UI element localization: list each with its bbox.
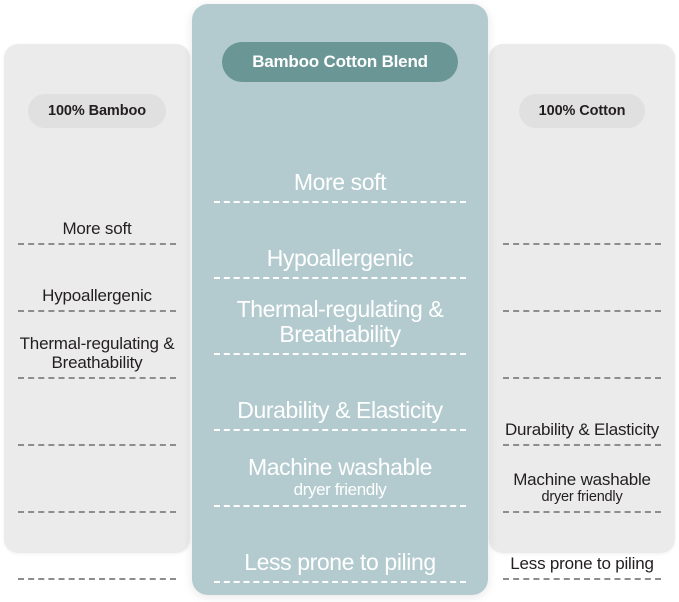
row-divider	[18, 243, 176, 245]
row-divider	[503, 578, 661, 580]
feature-label-main: Machine washable	[248, 454, 432, 480]
column-card-blend: Bamboo Cotton Blend More soft Hypoallerg…	[192, 4, 488, 595]
comparison-chart: 100% Bamboo More soft Hypoallergenic The…	[0, 0, 679, 602]
badge-label-blend: Bamboo Cotton Blend	[222, 42, 458, 82]
feature-list-bamboo: More soft Hypoallergenic Thermal-regulat…	[4, 182, 190, 584]
feature-list-blend: More soft Hypoallergenic Thermal-regulat…	[192, 132, 488, 588]
feature-label: More soft	[294, 170, 386, 196]
feature-row: Hypoallergenic	[18, 249, 176, 316]
feature-label: Durability & Elasticity	[237, 398, 443, 424]
column-header-blend: Bamboo Cotton Blend	[192, 42, 488, 82]
feature-row-empty	[503, 316, 661, 383]
feature-row: Less prone to piling	[214, 512, 466, 588]
feature-label: More soft	[62, 219, 131, 238]
row-divider	[503, 511, 661, 513]
row-divider	[503, 243, 661, 245]
row-divider	[18, 377, 176, 379]
feature-label: Hypoallergenic	[267, 246, 414, 272]
feature-row-empty	[18, 517, 176, 584]
feature-row: Durability & Elasticity	[503, 383, 661, 450]
feature-row: More soft	[214, 132, 466, 208]
feature-list-cotton: Durability & Elasticity Machine washable…	[489, 182, 675, 584]
feature-label: Machine washable dryer friendly	[248, 455, 432, 500]
column-card-cotton: 100% Cotton Durability & Elasticity	[489, 44, 675, 553]
column-card-bamboo: 100% Bamboo More soft Hypoallergenic The…	[4, 44, 190, 553]
row-divider	[214, 581, 466, 583]
feature-label: Thermal-regulating & Breathability	[18, 334, 176, 372]
row-divider	[214, 429, 466, 431]
column-header-cotton: 100% Cotton	[489, 94, 675, 128]
feature-label: Machine washable dryer friendly	[513, 470, 651, 506]
badge-label-bamboo: 100% Bamboo	[28, 94, 166, 128]
feature-label: Thermal-regulating & Breathability	[214, 297, 466, 349]
row-divider	[503, 444, 661, 446]
feature-row: Thermal-regulating & Breathability	[214, 284, 466, 360]
feature-row-empty	[503, 182, 661, 249]
feature-row-empty	[18, 383, 176, 450]
feature-row: Machine washable dryer friendly	[503, 450, 661, 517]
feature-row-empty	[18, 450, 176, 517]
feature-label-sub: dryer friendly	[248, 480, 432, 500]
feature-label: Less prone to piling	[244, 550, 435, 576]
feature-row: Durability & Elasticity	[214, 360, 466, 436]
row-divider	[214, 505, 466, 507]
feature-label-sub: dryer friendly	[513, 489, 651, 506]
row-divider	[503, 310, 661, 312]
row-divider	[18, 444, 176, 446]
feature-label-main: Machine washable	[513, 470, 651, 489]
feature-row-empty	[503, 249, 661, 316]
row-divider	[214, 277, 466, 279]
feature-row: More soft	[18, 182, 176, 249]
row-divider	[18, 578, 176, 580]
feature-label: Hypoallergenic	[42, 286, 152, 305]
row-divider	[214, 201, 466, 203]
row-divider	[214, 353, 466, 355]
feature-row: Less prone to piling	[503, 517, 661, 584]
row-divider	[18, 511, 176, 513]
column-header-bamboo: 100% Bamboo	[4, 94, 190, 128]
row-divider	[18, 310, 176, 312]
badge-label-cotton: 100% Cotton	[519, 94, 646, 128]
feature-row: Machine washable dryer friendly	[214, 436, 466, 512]
feature-label: Less prone to piling	[510, 554, 653, 573]
feature-row: Hypoallergenic	[214, 208, 466, 284]
row-divider	[503, 377, 661, 379]
feature-label: Durability & Elasticity	[505, 420, 659, 439]
feature-row: Thermal-regulating & Breathability	[18, 316, 176, 383]
